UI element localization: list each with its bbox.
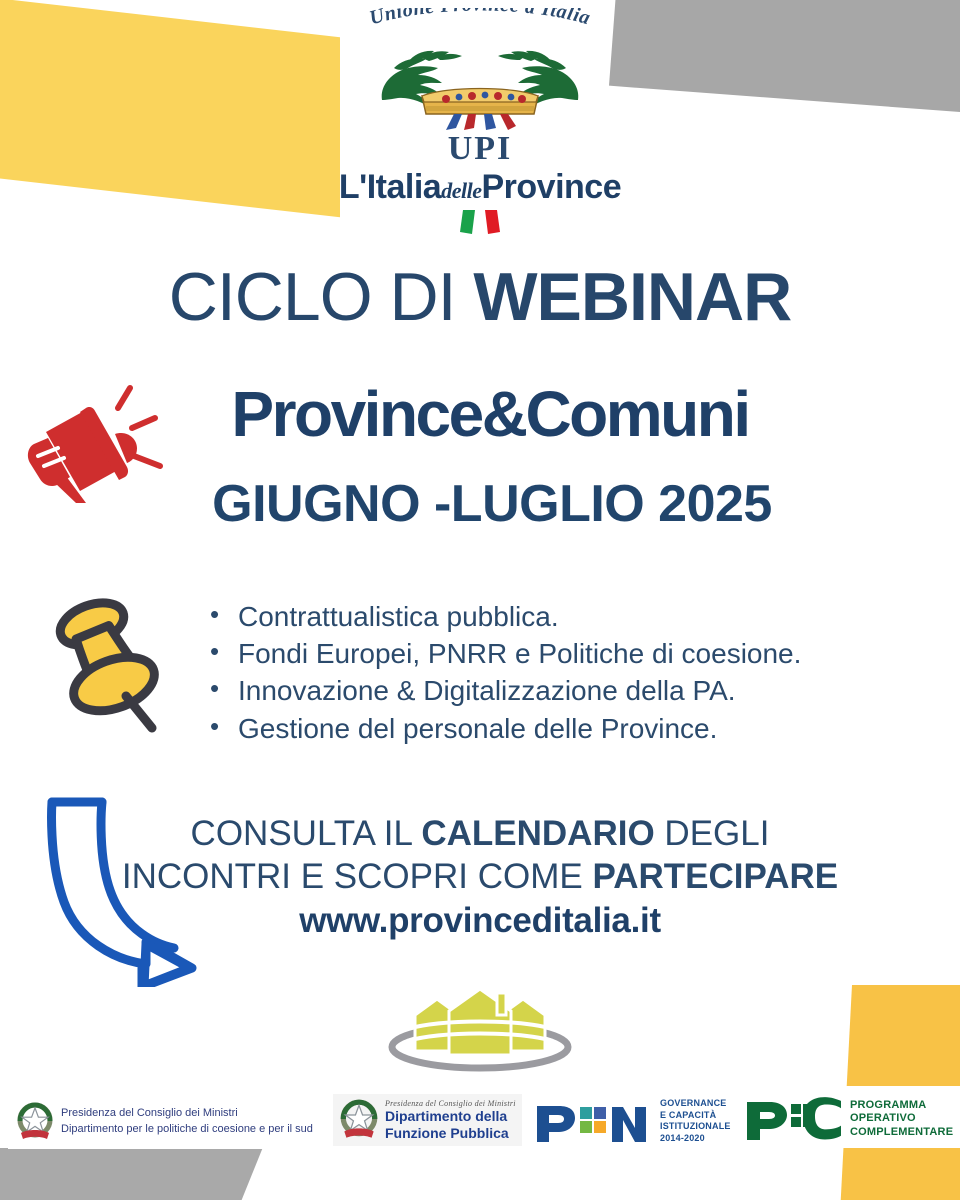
poc-text: PROGRAMMA OPERATIVO COMPLEMENTARE: [850, 1099, 953, 1139]
cta-line-2: INCONTRI E SCOPRI COME PARTECIPARE: [0, 856, 960, 899]
upi-arc-text: Unione Province d'Italia: [0, 8, 960, 38]
cta-line1-post: DEGLI: [655, 814, 770, 853]
upi-tagline-part1: L'Italia: [339, 168, 441, 206]
logo-presidenza-consiglio: Presidenza del Consiglio dei Ministri Di…: [8, 1095, 321, 1149]
pon-text: GOVERNANCE E CAPACITÀ ISTITUZIONALE 2014…: [660, 1098, 731, 1144]
poc-line-2: OPERATIVO: [850, 1112, 953, 1125]
upi-arc-svg: Unione Province d'Italia: [330, 8, 630, 42]
pon-mark: [533, 1098, 653, 1144]
pon-line-1: GOVERNANCE: [660, 1098, 731, 1110]
pon-line-2: E CAPACITÀ: [660, 1110, 731, 1122]
upi-abbreviation: UPI: [0, 132, 960, 166]
title-bold-part: WEBINAR: [473, 259, 791, 335]
list-item: Fondi Europei, PNRR e Politiche di coesi…: [208, 635, 801, 672]
presidenza-line-1: Presidenza del Consiglio dei Ministri: [61, 1106, 313, 1122]
pon-line-4: 2014-2020: [660, 1133, 731, 1145]
upi-tagline-script: delle: [441, 178, 481, 203]
cta-line-1: CONSULTA IL CALENDARIO DEGLI: [0, 813, 960, 856]
poc-line-1: PROGRAMMA: [850, 1099, 953, 1112]
upi-arc-label: Unione Province d'Italia: [367, 8, 593, 29]
cta-line1-pre: CONSULTA IL: [191, 814, 422, 853]
pushpin-icon: [48, 592, 183, 747]
italian-flag-icon: [0, 208, 960, 236]
cta-line2-pre: INCONTRI E SCOPRI COME: [122, 857, 593, 896]
page-title: CICLO DI WEBINAR: [0, 263, 960, 331]
website-url[interactable]: www.provinceditalia.it: [0, 901, 960, 941]
list-item: Contrattualistica pubblica.: [208, 598, 801, 635]
webinar-series-name: Province&Comuni: [0, 382, 960, 446]
upi-oak-olive-crown-emblem: [350, 38, 610, 130]
call-to-action: CONSULTA IL CALENDARIO DEGLI INCONTRI E …: [0, 813, 960, 941]
cta-line2-bold: PARTECIPARE: [592, 857, 838, 896]
upi-logo: Unione Province d'Italia: [0, 8, 960, 236]
cta-line1-bold: CALENDARIO: [421, 814, 654, 853]
list-item: Innovazione & Digitalizzazione della PA.: [208, 672, 801, 709]
title-light-part: CICLO DI: [169, 259, 474, 335]
logo-pon: GOVERNANCE E CAPACITÀ ISTITUZIONALE 2014…: [533, 1098, 731, 1144]
topic-list: Contrattualistica pubblica. Fondi Europe…: [208, 598, 801, 747]
funzione-script-line: Presidenza del Consiglio dei Ministri: [385, 1099, 516, 1108]
webinar-poster: Unione Province d'Italia: [0, 0, 960, 1200]
italian-republic-emblem: [16, 1101, 54, 1143]
pon-line-3: ISTITUZIONALE: [660, 1121, 731, 1133]
list-item: Gestione del personale delle Province.: [208, 710, 801, 747]
funzione-text: Presidenza del Consiglio dei Ministri Di…: [385, 1099, 516, 1142]
webinar-dates: GIUGNO -LUGLIO 2025: [0, 478, 960, 530]
logo-poc: PROGRAMMA OPERATIVO COMPLEMENTARE: [745, 1096, 953, 1142]
logo-funzione-pubblica: Presidenza del Consiglio dei Ministri Di…: [333, 1094, 522, 1146]
funzione-line-2: Funzione Pubblica: [385, 1125, 516, 1142]
italian-republic-emblem: [339, 1098, 379, 1142]
presidenza-line-2: Dipartimento per le politiche di coesion…: [61, 1122, 313, 1138]
poc-line-3: COMPLEMENTARE: [850, 1126, 953, 1139]
upi-tagline: L'ItaliadelleProvince: [0, 170, 960, 206]
funzione-line-1: Dipartimento della: [385, 1108, 516, 1125]
village-houses-logo: [385, 985, 575, 1078]
poc-mark: [745, 1096, 843, 1142]
presidenza-text: Presidenza del Consiglio dei Ministri Di…: [61, 1106, 313, 1138]
upi-tagline-part2: Province: [481, 168, 621, 206]
svg-text:Unione Province d'Italia: Unione Province d'Italia: [367, 8, 593, 29]
